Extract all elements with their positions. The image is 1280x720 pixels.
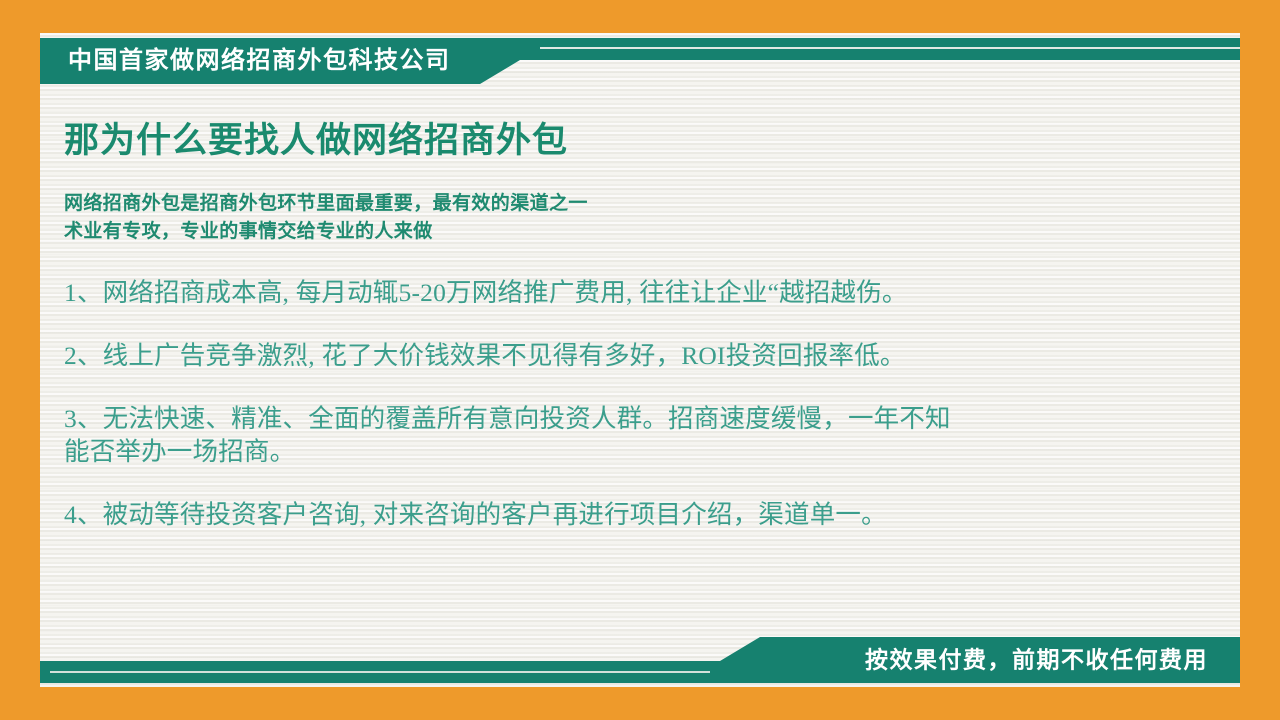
point-list: 1、网络招商成本高, 每月动辄5-20万网络推广费用, 往往让企业“越招越伤。 … xyxy=(64,276,1224,531)
footer-accent-line xyxy=(50,671,710,673)
main-heading: 那为什么要找人做网络招商外包 xyxy=(64,120,1224,162)
slide-root: 中国首家做网络招商外包科技公司 那为什么要找人做网络招商外包 网络招商外包是招商… xyxy=(0,0,1280,720)
point-line: 2、线上广告竞争激烈, 花了大价钱效果不见得有多好，ROI投资回报率低。 xyxy=(64,339,1224,373)
point-item: 1、网络招商成本高, 每月动辄5-20万网络推广费用, 往往让企业“越招越伤。 xyxy=(64,276,1224,310)
header-banner: 中国首家做网络招商外包科技公司 xyxy=(40,38,1240,84)
subheading-line-2: 术业有专攻，专业的事情交给专业的人来做 xyxy=(64,218,1224,246)
point-line: 能否举办一场招商。 xyxy=(64,435,1224,469)
slide-content: 那为什么要找人做网络招商外包 网络招商外包是招商外包环节里面最重要，最有效的渠道… xyxy=(64,120,1224,532)
footer-banner: 按效果付费，前期不收任何费用 xyxy=(40,637,1240,683)
point-line: 4、被动等待投资客户咨询, 对来咨询的客户再进行项目介绍，渠道单一。 xyxy=(64,498,1224,532)
point-item: 3、无法快速、精准、全面的覆盖所有意向投资人群。招商速度缓慢，一年不知 能否举办… xyxy=(64,402,1224,469)
footer-tagline: 按效果付费，前期不收任何费用 xyxy=(865,649,1208,672)
header-title: 中国首家做网络招商外包科技公司 xyxy=(68,49,451,73)
point-item: 4、被动等待投资客户咨询, 对来咨询的客户再进行项目介绍，渠道单一。 xyxy=(64,498,1224,532)
subheading-group: 网络招商外包是招商外包环节里面最重要，最有效的渠道之一 术业有专攻，专业的事情交… xyxy=(64,190,1224,246)
header-accent-line xyxy=(540,47,1240,49)
point-line: 3、无法快速、精准、全面的覆盖所有意向投资人群。招商速度缓慢，一年不知 xyxy=(64,402,1224,436)
point-line: 1、网络招商成本高, 每月动辄5-20万网络推广费用, 往往让企业“越招越伤。 xyxy=(64,276,1224,310)
subheading-line-1: 网络招商外包是招商外包环节里面最重要，最有效的渠道之一 xyxy=(64,190,1224,218)
point-item: 2、线上广告竞争激烈, 花了大价钱效果不见得有多好，ROI投资回报率低。 xyxy=(64,339,1224,373)
